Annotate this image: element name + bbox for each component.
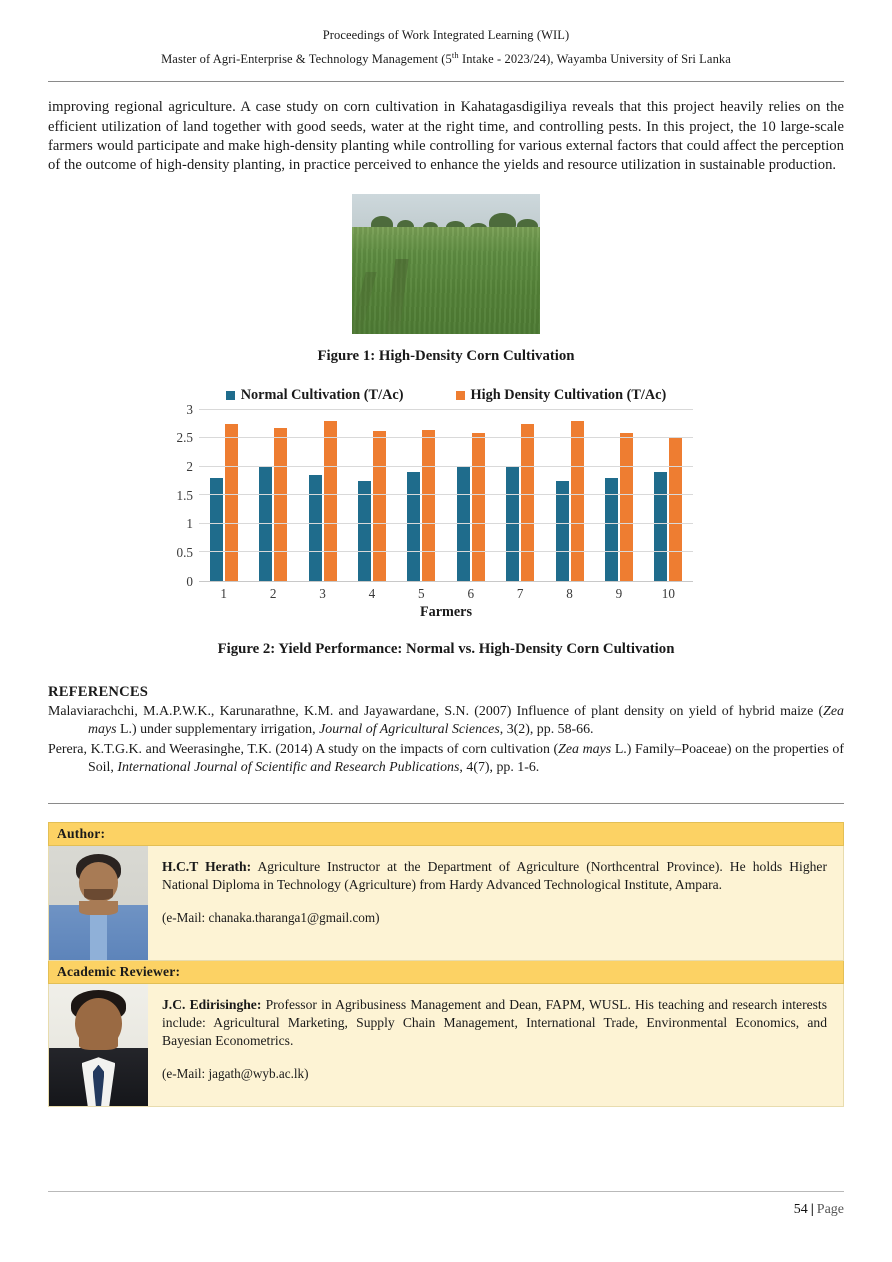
footer-divider	[48, 1191, 844, 1192]
reviewer-email: (e-Mail: jagath@wyb.ac.lk)	[162, 1065, 827, 1083]
chart-x-tick-label: 10	[644, 586, 693, 602]
bar-normal-cultivation	[309, 475, 322, 580]
bar-normal-cultivation	[259, 467, 272, 581]
portrait-neck	[79, 1035, 119, 1050]
portrait-neck	[79, 901, 119, 915]
chart-bar-group	[446, 410, 495, 581]
chart-legend: Normal Cultivation (T/Ac) High Density C…	[0, 387, 892, 404]
chart-x-axis-labels: 12345678910	[199, 586, 693, 602]
author-description: Agriculture Instructor at the Department…	[162, 859, 827, 892]
bio-body-author: H.C.T Herath: Agriculture Instructor at …	[48, 846, 844, 961]
reference-italic: Zea mays	[558, 742, 611, 757]
bar-high-density-cultivation	[521, 424, 534, 581]
chart-gridline	[199, 409, 693, 410]
reference-item: Malaviarachchi, M.A.P.W.K., Karunarathne…	[48, 703, 844, 739]
reviewer-name: J.C. Edirisinghe:	[162, 997, 261, 1012]
bar-high-density-cultivation	[422, 430, 435, 581]
bio-body-reviewer: J.C. Edirisinghe: Professor in Agribusin…	[48, 984, 844, 1107]
author-email: (e-Mail: chanaka.tharanga1@gmail.com)	[162, 909, 827, 927]
bar-normal-cultivation	[654, 472, 667, 580]
chart-bar-group	[199, 410, 248, 581]
chart-gridline	[199, 494, 693, 495]
body-paragraph: improving regional agriculture. A case s…	[48, 98, 844, 176]
chart-x-tick-label: 7	[495, 586, 544, 602]
chart-bar-group	[248, 410, 297, 581]
chart-y-tick-label: 2	[186, 459, 193, 475]
chart-gridline	[199, 523, 693, 524]
legend-label-high-density: High Density Cultivation (T/Ac)	[471, 387, 667, 404]
legend-item-normal: Normal Cultivation (T/Ac)	[226, 387, 404, 404]
running-head-line-2: Master of Agri-Enterprise & Technology M…	[0, 50, 892, 67]
chart-gridline	[199, 466, 693, 467]
chart-x-tick-label: 4	[347, 586, 396, 602]
legend-swatch-normal-icon	[226, 391, 235, 400]
corn-field-photo	[352, 194, 540, 334]
chart-x-tick-label: 3	[298, 586, 347, 602]
figure-1-container	[0, 194, 892, 334]
figure-2-caption: Figure 2: Yield Performance: Normal vs. …	[0, 641, 892, 658]
reviewer-bio-text: J.C. Edirisinghe: Professor in Agribusin…	[148, 984, 843, 1106]
chart-y-axis-labels: 00.511.522.53	[165, 410, 197, 582]
running-head-line-2-pre: Master of Agri-Enterprise & Technology M…	[161, 52, 452, 66]
portrait-beard	[84, 889, 114, 899]
chart-y-tick-label: 1	[186, 516, 193, 532]
author-name: H.C.T Herath:	[162, 859, 251, 874]
bar-normal-cultivation	[556, 481, 569, 581]
reviewer-bio-paragraph: J.C. Edirisinghe: Professor in Agribusin…	[162, 996, 827, 1050]
bar-high-density-cultivation	[373, 431, 386, 581]
reference-italic: International Journal of Scientific and …	[117, 760, 459, 775]
bar-high-density-cultivation	[669, 438, 682, 581]
chart-bar-group	[545, 410, 594, 581]
photo-furrow	[352, 272, 377, 334]
chart-gridline	[199, 551, 693, 552]
reference-italic: Journal of Agricultural Sciences	[319, 722, 500, 737]
bar-normal-cultivation	[358, 481, 371, 581]
intake-ordinal-suffix: th	[452, 50, 459, 60]
chart-y-tick-label: 1.5	[177, 488, 193, 504]
chart-bar-group	[495, 410, 544, 581]
bios-section: Author: H.C.T Herath: Agriculture Instru…	[48, 822, 844, 1107]
bar-high-density-cultivation	[274, 428, 287, 581]
photo-corn-field	[352, 227, 540, 333]
legend-item-high-density: High Density Cultivation (T/Ac)	[456, 387, 667, 404]
bar-normal-cultivation	[457, 467, 470, 581]
header-divider	[48, 81, 844, 82]
legend-label-normal: Normal Cultivation (T/Ac)	[241, 387, 404, 404]
bar-high-density-cultivation	[620, 433, 633, 581]
references-heading: REFERENCES	[48, 684, 844, 701]
bar-normal-cultivation	[506, 467, 519, 581]
chart-x-tick-label: 5	[397, 586, 446, 602]
bar-high-density-cultivation	[324, 421, 337, 581]
document-page: Proceedings of Work Integrated Learning …	[0, 0, 892, 1262]
chart-bars	[199, 410, 693, 581]
author-portrait-photo	[49, 846, 148, 960]
reference-text: Malaviarachchi, M.A.P.W.K., Karunarathne…	[48, 704, 823, 719]
reference-item: Perera, K.T.G.K. and Weerasinghe, T.K. (…	[48, 741, 844, 777]
running-head: Proceedings of Work Integrated Learning …	[0, 0, 892, 67]
chart-y-tick-label: 0	[186, 574, 193, 590]
running-head-line-1: Proceedings of Work Integrated Learning …	[0, 28, 892, 43]
reference-text: , 3(2), pp. 58-66.	[500, 722, 594, 737]
chart-x-tick-label: 6	[446, 586, 495, 602]
reviewer-description: Professor in Agribusiness Management and…	[162, 997, 827, 1048]
chart-bar-group	[644, 410, 693, 581]
chart-plot-area: 00.511.522.53	[199, 410, 693, 582]
reference-text: Perera, K.T.G.K. and Weerasinghe, T.K. (…	[48, 742, 558, 757]
reference-text: L.) under supplementary irrigation,	[117, 722, 320, 737]
chart-plot	[199, 410, 693, 582]
author-bio-text: H.C.T Herath: Agriculture Instructor at …	[148, 846, 843, 960]
bio-header-author: Author:	[48, 822, 844, 846]
page-footer: 54|Page	[794, 1202, 844, 1218]
chart-x-tick-label: 9	[594, 586, 643, 602]
chart-y-tick-label: 2.5	[177, 430, 193, 446]
author-bio-paragraph: H.C.T Herath: Agriculture Instructor at …	[162, 858, 827, 894]
figure-2-chart: Normal Cultivation (T/Ac) High Density C…	[0, 387, 892, 621]
photo-furrow	[387, 259, 409, 333]
chart-bar-group	[347, 410, 396, 581]
figure-1-caption: Figure 1: High-Density Corn Cultivation	[0, 348, 892, 365]
bio-header-reviewer: Academic Reviewer:	[48, 961, 844, 984]
chart-x-tick-label: 2	[248, 586, 297, 602]
reference-text: , 4(7), pp. 1-6.	[459, 760, 539, 775]
chart-x-tick-label: 8	[545, 586, 594, 602]
bar-high-density-cultivation	[225, 424, 238, 581]
chart-x-axis-title: Farmers	[199, 604, 693, 621]
bar-normal-cultivation	[407, 472, 420, 580]
footer-page-word: Page	[817, 1202, 844, 1217]
chart-bar-group	[397, 410, 446, 581]
chart-y-tick-label: 0.5	[177, 545, 193, 561]
chart-bar-group	[594, 410, 643, 581]
section-divider	[48, 803, 844, 804]
reviewer-portrait-photo	[49, 984, 148, 1106]
footer-separator: |	[808, 1202, 817, 1217]
bar-high-density-cultivation	[571, 421, 584, 581]
chart-gridline	[199, 437, 693, 438]
chart-y-tick-label: 3	[186, 402, 193, 418]
bar-high-density-cultivation	[472, 433, 485, 581]
legend-swatch-high-density-icon	[456, 391, 465, 400]
chart-x-tick-label: 1	[199, 586, 248, 602]
footer-page-number: 54	[794, 1202, 808, 1217]
running-head-line-2-post: Intake - 2023/24), Wayamba University of…	[459, 52, 731, 66]
chart-bar-group	[298, 410, 347, 581]
